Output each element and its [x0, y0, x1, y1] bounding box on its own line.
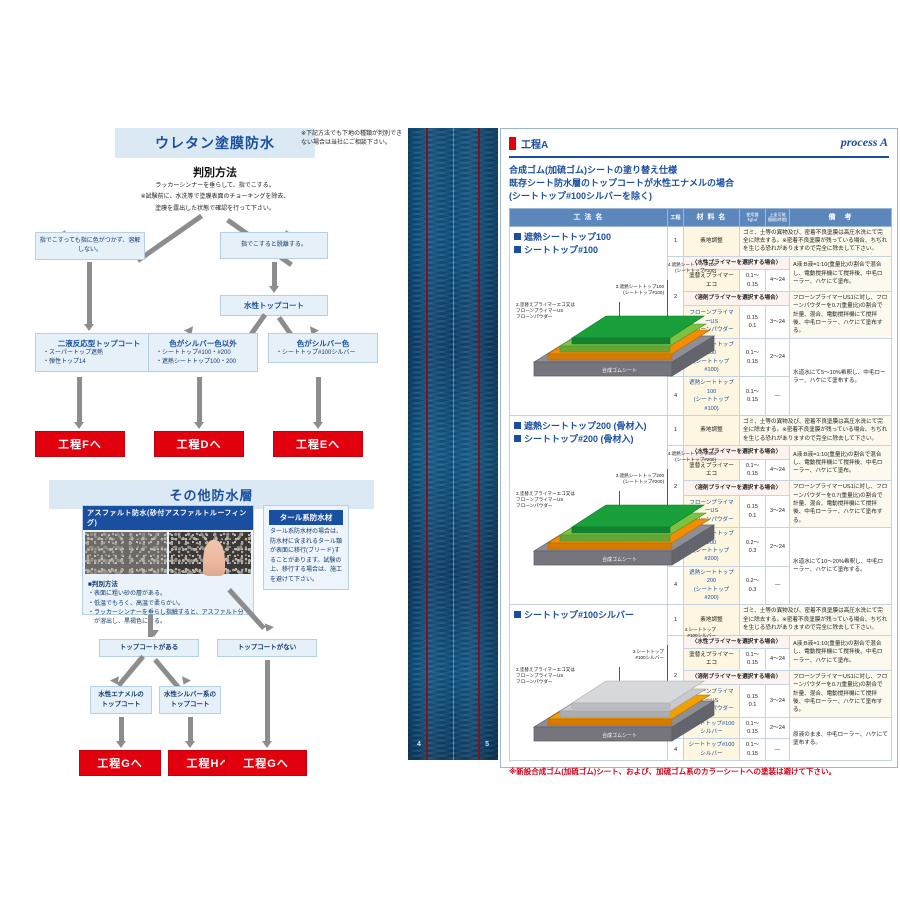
process-header: 工程A process A — [501, 129, 897, 164]
col-interval: 上塗可能 間隔(時間) — [766, 208, 790, 226]
usage-value: 0.2～0.3 — [740, 528, 766, 567]
has-topcoat-box: トップコートがある — [99, 639, 199, 657]
arrow-to-d — [197, 377, 202, 424]
urethane-band: ウレタン塗膜防水 — [115, 128, 315, 158]
tar-body: タール系防水材の場合は、防水材に含まれるタール類が表面に移行(ブリード)すること… — [264, 528, 348, 592]
flowchart-panel: ウレタン塗膜防水 ※下記方法でも下地の種類が判別できない場合は当社にご相談下さい… — [35, 128, 395, 768]
remark-cell: フローンプライマーUS1に対し、フローンパウダーを0.7(重量比)の割合で計量、… — [790, 291, 892, 338]
col-material: 材 料 名 — [684, 208, 740, 226]
layer-stack-svg: 合成ゴムシート — [514, 258, 724, 390]
arrow-head-left-down — [84, 324, 94, 331]
interval-value: 4～24 — [766, 459, 790, 481]
non-silver-line1: ・シートトップ#100・#200 — [152, 349, 254, 358]
usage-value: 0.1～0.15 — [740, 338, 766, 377]
arrow-right-down — [272, 262, 277, 288]
svg-text:合成ゴムシート: 合成ゴムシート — [602, 732, 637, 739]
interval-value: 2～24 — [766, 528, 790, 567]
remark-cell: 原液のまま、中毛ローラー、ハケにて塗布する。 — [790, 717, 892, 761]
asphalt-point-1: ・低温でもろく、高温で柔らかい。 — [88, 600, 248, 609]
spec-header-row: 工 法 名 工程 材 料 名 使用量 kg/㎡ 上塗可能 間隔(時間) 備 考 — [510, 208, 892, 226]
goto-process-e[interactable]: 工程Eへ — [273, 431, 363, 457]
arrow-split-left — [136, 214, 203, 263]
interval-value: 2～24 — [766, 717, 790, 739]
layer-diagram: 4.遮熱シートトップ200(シートトップ#200)3.遮熱シートトップ200(シ… — [514, 447, 724, 579]
asphalt-photo-1 — [85, 532, 167, 574]
layer-stack-svg: 合成ゴムシート — [514, 623, 724, 755]
non-silver-line2: ・遮熱シートトップ100・200 — [152, 358, 254, 367]
arrow-to-g1 — [119, 717, 124, 743]
two-part-line2: ・弾性トップ14 — [39, 358, 159, 367]
spec-footnote: ※新設合成ゴム(加硫ゴム)シート、および、加硫ゴム系のカラーシートへの塗装は避け… — [501, 761, 897, 784]
page-root: ウレタン塗膜防水 ※下記方法でも下地の種類が判別できない場合は当社にご相談下さい… — [0, 0, 900, 900]
usage-value: 0.150.1 — [740, 306, 766, 339]
process-subtitle: 合成ゴム(加硫ゴム)シートの塗り替え仕様 既存シート防水層のトップコートが水性エ… — [501, 164, 897, 208]
remark-cell: A液:B液=1:10(重量比)の割合で混合し、電動撹拌機にて撹拌後、中毛ローラー… — [790, 256, 892, 291]
goto-process-g-1[interactable]: 工程Gへ — [79, 750, 161, 776]
strip-rule-left — [426, 128, 428, 760]
silver-line1: ・シートトップ#100シルバー — [272, 349, 374, 358]
silver-title: 色がシルバー色 — [272, 338, 374, 349]
goto-process-g-2[interactable]: 工程Gへ — [225, 750, 307, 776]
water-topcoat-text: 水性トップコート — [244, 301, 304, 310]
silver-topcoat-box: 水性シルバー系のトップコート — [159, 686, 221, 714]
usage-value: 0.2～0.3 — [740, 566, 766, 605]
remark-cell: 水道水にて10～20%希釈し、中毛ローラー、ハケにて塗布する。 — [790, 528, 892, 605]
enamel-topcoat-box: 水性エナメルのトップコート — [90, 686, 152, 714]
page-number-right: 5 — [485, 741, 489, 748]
block-title: シートトップ#100シルバー — [514, 609, 663, 623]
table-row: シートトップ#100シルバー4.シートトップ#100シルバー3.シートトップ#1… — [510, 605, 892, 635]
usage-value: 0.1～0.15 — [740, 717, 766, 739]
spec-sheet-panel: 工程A process A 合成ゴム(加硫ゴム)シートの塗り替え仕様 既存シート… — [500, 128, 898, 768]
col-usage-unit: kg/㎡ — [741, 217, 764, 222]
non-silver-title: 色がシルバー色以外 — [152, 338, 254, 349]
branch-left-box: 指でこすっても指に色がつかず、溶解しない。 — [35, 232, 145, 260]
block-method-cell: シートトップ#100シルバー4.シートトップ#100シルバー3.シートトップ#1… — [510, 605, 668, 761]
goto-process-f[interactable]: 工程Fへ — [35, 431, 125, 457]
arrow-head-to-h — [185, 741, 195, 748]
process-rule — [509, 156, 889, 158]
asphalt-method-head: ■判別方法 — [88, 581, 118, 588]
arrow-head-right-down — [269, 286, 279, 293]
strip-rule-right — [478, 128, 480, 760]
method-title: 判別方法 — [35, 164, 395, 180]
subtitle-line-1: 合成ゴム(加硫ゴム)シートの塗り替え仕様 — [509, 164, 889, 177]
arrow-to-h — [188, 717, 193, 743]
remark-cell: ゴミ、土等の異物及び、密着不良塗膜は高圧水洗にて完全に除去する。※密着不良塗膜が… — [740, 226, 892, 256]
remark-cell: ゴミ、土等の異物及び、密着不良塗膜は高圧水洗にて完全に除去する。※密着不良塗膜が… — [740, 415, 892, 445]
tar-card: タール系防水材 タール系防水材の場合は、防水材に含まれるタール類が表面に移行(ブ… — [263, 505, 349, 590]
remark-cell: A液:B液=1:10(重量比)の割合で混合し、電動撹拌機にて撹拌後、中毛ローラー… — [790, 446, 892, 481]
interval-value: 3～24 — [766, 495, 790, 528]
spec-table: 工 法 名 工程 材 料 名 使用量 kg/㎡ 上塗可能 間隔(時間) 備 考 … — [509, 208, 892, 762]
asphalt-card: アスファルト防水(砂付アスファルトルーフィング) ■判別方法 ・表面に粗い砂の層… — [82, 505, 254, 615]
finger-illustration — [203, 540, 224, 576]
col-method: 工 法 名 — [510, 208, 668, 226]
process-latin-label: process A — [841, 135, 888, 150]
goto-process-d[interactable]: 工程Dへ — [154, 431, 244, 457]
silver-topcoat-label: 水性シルバー系のトップコート — [164, 691, 216, 708]
two-part-topcoat-box: 二液反応型トップコート ・スーパートップ遮熱 ・弾性トップ14 — [35, 333, 163, 372]
col-usage: 使用量 kg/㎡ — [740, 208, 766, 226]
table-row: 遮熱シートトップ200 (骨材入)シートトップ#200 (骨材入)4.遮熱シート… — [510, 415, 892, 445]
usage-value: 0.1～0.15 — [740, 270, 766, 292]
method-desc-1: ラッカーシンナーを垂らして、指でこする。 — [35, 182, 395, 191]
asphalt-method-block: ■判別方法 ・表面に粗い砂の層がある。 ・低温でもろく、高温で柔らかい。 ・ラッ… — [83, 576, 253, 631]
usage-value: 0.1～0.15 — [740, 739, 766, 761]
interval-value: 3～24 — [766, 685, 790, 718]
branch-right-text: 指でこすると脱離する。 — [241, 242, 307, 248]
enamel-topcoat-label: 水性エナメルのトップコート — [98, 691, 144, 708]
col-remarks: 備 考 — [790, 208, 892, 226]
water-topcoat-box: 水性トップコート — [220, 295, 328, 316]
col-step: 工程 — [668, 208, 684, 226]
arrow-to-e — [316, 377, 321, 424]
asphalt-point-0: ・表面に粗い砂の層がある。 — [88, 590, 248, 599]
process-tag: 工程A — [509, 135, 548, 153]
branch-right-box: 指でこすると脱離する。 — [220, 232, 328, 259]
layer-diagram: 4.遮熱シートトップ100(シートトップ#100)3.遮熱シートトップ100(シ… — [514, 258, 724, 390]
asphalt-photo-2 — [169, 532, 251, 574]
svg-text:合成ゴムシート: 合成ゴムシート — [602, 556, 637, 563]
interval-value: — — [766, 566, 790, 605]
arrow-head-has-topcoat — [149, 630, 159, 637]
usage-value: 0.1～0.15 — [740, 377, 766, 416]
block-title: 遮熱シートトップ100シートトップ#100 — [514, 231, 663, 258]
usage-value: 0.1～0.15 — [740, 459, 766, 481]
remark-cell: ゴミ、土等の異物及び、密着不良塗膜は高圧水洗にて完全に除去する。※密着不良塗膜が… — [740, 605, 892, 635]
process-label: 工程A — [521, 140, 548, 151]
non-silver-box: 色がシルバー色以外 ・シートトップ#100・#200 ・遮熱シートトップ100・… — [148, 333, 258, 372]
interval-value: 4～24 — [766, 270, 790, 292]
col-interval-unit: 間隔(時間) — [767, 217, 788, 222]
branch-left-text: 指でこすっても指に色がつかず、溶解しない。 — [40, 238, 141, 253]
strip-fold-center — [453, 128, 454, 760]
asphalt-point-2: ・ラッカーシンナーを垂らし指触すると、アスファルト分 — [88, 609, 248, 618]
subtitle-line-2: 既存シート防水層のトップコートが水性エナメルの場合 — [509, 177, 889, 190]
two-part-line1: ・スーパートップ遮熱 — [39, 349, 159, 358]
process-marker-icon — [509, 137, 516, 150]
page-number-left: 4 — [417, 741, 421, 748]
interval-value: — — [766, 739, 790, 761]
step-number: 1 — [668, 226, 684, 256]
usage-value: 0.150.1 — [740, 685, 766, 718]
spec-table-body: 遮熱シートトップ100シートトップ#1004.遮熱シートトップ100(シートトッ… — [510, 226, 892, 761]
book-spine-strip: 4 5 — [408, 128, 498, 760]
arrow-head-to-d — [194, 422, 204, 429]
layer-stack-svg: 合成ゴムシート — [514, 447, 724, 579]
asphalt-point-3: が溶出し、黒褐色になる。 — [88, 618, 248, 627]
svg-text:合成ゴムシート: 合成ゴムシート — [602, 367, 637, 374]
block-method-cell: 遮熱シートトップ200 (骨材入)シートトップ#200 (骨材入)4.遮熱シート… — [510, 415, 668, 604]
two-part-title: 二液反応型トップコート — [39, 338, 159, 349]
remark-cell: 水道水にて5～10%希釈し、中毛ローラー、ハケにて塗布する。 — [790, 338, 892, 415]
layer-diagram: 4.シートトップ#100シルバー3.シートトップ#100シルバー2.塗替えプライ… — [514, 623, 724, 755]
arrow-head-to-f — [74, 422, 84, 429]
remark-cell: A液:B液=1:10(重量比)の割合で混合し、電動撹拌機にて撹拌後、中毛ローラー… — [790, 635, 892, 670]
arrow-left-down — [87, 262, 92, 326]
method-desc-2: ※試験前に、水洗等で塗膜表面のチョーキングを除去、 — [35, 193, 395, 202]
arrow-to-f — [77, 377, 82, 424]
step-number: 1 — [668, 415, 684, 445]
subtitle-line-3: (シートトップ#100シルバーを除く) — [509, 190, 889, 203]
spec-table-head: 工 法 名 工程 材 料 名 使用量 kg/㎡ 上塗可能 間隔(時間) 備 考 — [510, 208, 892, 226]
arrow-head-to-g1 — [116, 741, 126, 748]
no-topcoat-box: トップコートがない — [217, 639, 317, 657]
block-title: 遮熱シートトップ200 (骨材入)シートトップ#200 (骨材入) — [514, 420, 663, 447]
material-name: 素地調整 — [684, 226, 740, 256]
silver-box: 色がシルバー色 ・シートトップ#100シルバー — [268, 333, 378, 363]
arrow-head-to-g2 — [262, 741, 272, 748]
interval-value: — — [766, 377, 790, 416]
material-name: 素地調整 — [684, 415, 740, 445]
interval-value: 4～24 — [766, 648, 790, 670]
usage-value: 0.150.1 — [740, 495, 766, 528]
arrow-head-to-e — [313, 422, 323, 429]
asphalt-title: アスファルト防水(砂付アスファルトルーフィング) — [83, 506, 253, 530]
interval-value: 3～24 — [766, 306, 790, 339]
block-method-cell: 遮熱シートトップ100シートトップ#1004.遮熱シートトップ100(シートトッ… — [510, 226, 668, 415]
table-row: 遮熱シートトップ100シートトップ#1004.遮熱シートトップ100(シートトッ… — [510, 226, 892, 256]
interval-value: 2～24 — [766, 338, 790, 377]
tar-title: タール系防水材 — [269, 510, 343, 525]
arrow-to-g2 — [265, 660, 270, 743]
remark-cell: フローンプライマーUS1に対し、フローンパウダーを0.7(重量比)の割合で計量、… — [790, 670, 892, 717]
usage-value: 0.1～0.15 — [740, 648, 766, 670]
side-note: ※下記方法でも下地の種類が判別できない場合は当社にご相談下さい。 — [301, 130, 405, 148]
remark-cell: フローンプライマーUS1に対し、フローンパウダーを0.7(重量比)の割合で計量、… — [790, 481, 892, 528]
method-desc-3: 塗膜を露出した状態で確認を行って下さい。 — [35, 205, 395, 214]
arrow-head-no-topcoat — [262, 623, 274, 633]
